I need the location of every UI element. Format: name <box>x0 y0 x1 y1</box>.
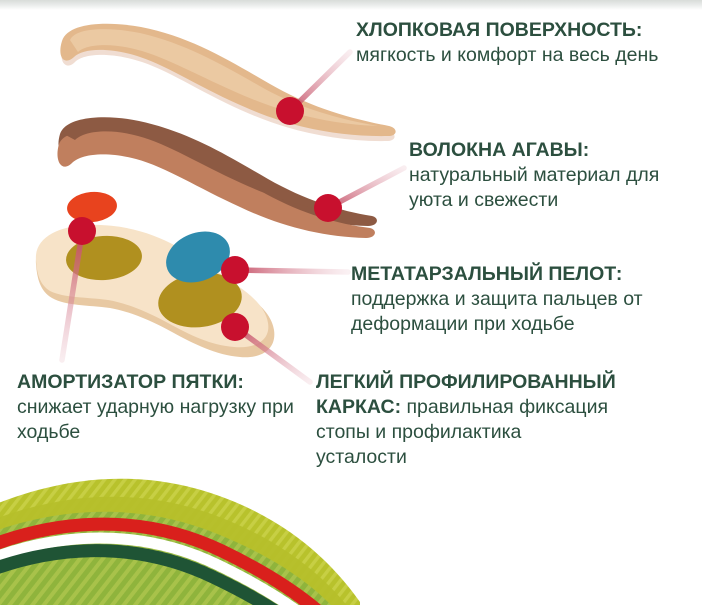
cotton-layer-highlight <box>70 29 378 126</box>
heel-absorber-ellipse <box>66 190 118 224</box>
marker-dot-metatarsal[interactable] <box>221 256 249 284</box>
marker-dot-cotton[interactable] <box>276 97 304 125</box>
marker-dot-frame[interactable] <box>221 313 249 341</box>
callout-cotton-surface: ХЛОПКОВАЯ ПОВЕРХНОСТЬ: мягкость и комфор… <box>356 18 686 68</box>
callout-agave-body: натуральный материал для уюта и свежести <box>409 164 659 211</box>
callout-cotton-body: мягкость и комфорт на весь день <box>356 44 658 66</box>
callout-metatarsal-title: МЕТАТАРЗАЛЬНЫЙ ПЕЛОТ: <box>351 263 622 285</box>
callout-heel-title: АМОРТИЗАТОР ПЯТКИ: <box>17 371 244 393</box>
callout-heel-absorber: АМОРТИЗАТОР ПЯТКИ: снижает ударную нагру… <box>17 370 307 445</box>
callout-metatarsal-pad: МЕТАТАРЗАЛЬНЫЙ ПЕЛОТ: поддержка и защита… <box>351 262 697 337</box>
callout-metatarsal-body: поддержка и защита пальцев от деформации… <box>351 288 643 335</box>
marker-dot-heel[interactable] <box>68 217 96 245</box>
callout-agave-title: ВОЛОКНА АГАВЫ: <box>409 139 589 161</box>
marker-dot-agave[interactable] <box>314 194 342 222</box>
callout-frame: ЛЕГКИЙ ПРОФИЛИРОВАННЫЙ КАРКАС: правильна… <box>316 370 616 470</box>
green-stripe-swoosh <box>0 479 372 605</box>
callout-cotton-title: ХЛОПКОВАЯ ПОВЕРХНОСТЬ: <box>356 19 642 41</box>
callout-heel-body: снижает ударную нагрузку при ходьбе <box>17 396 294 443</box>
leader-line-metatarsal <box>235 270 348 272</box>
insole-infographic: ХЛОПКОВАЯ ПОВЕРХНОСТЬ: мягкость и комфор… <box>0 0 702 605</box>
callout-agave-fibers: ВОЛОКНА АГАВЫ: натуральный материал для … <box>409 138 697 213</box>
